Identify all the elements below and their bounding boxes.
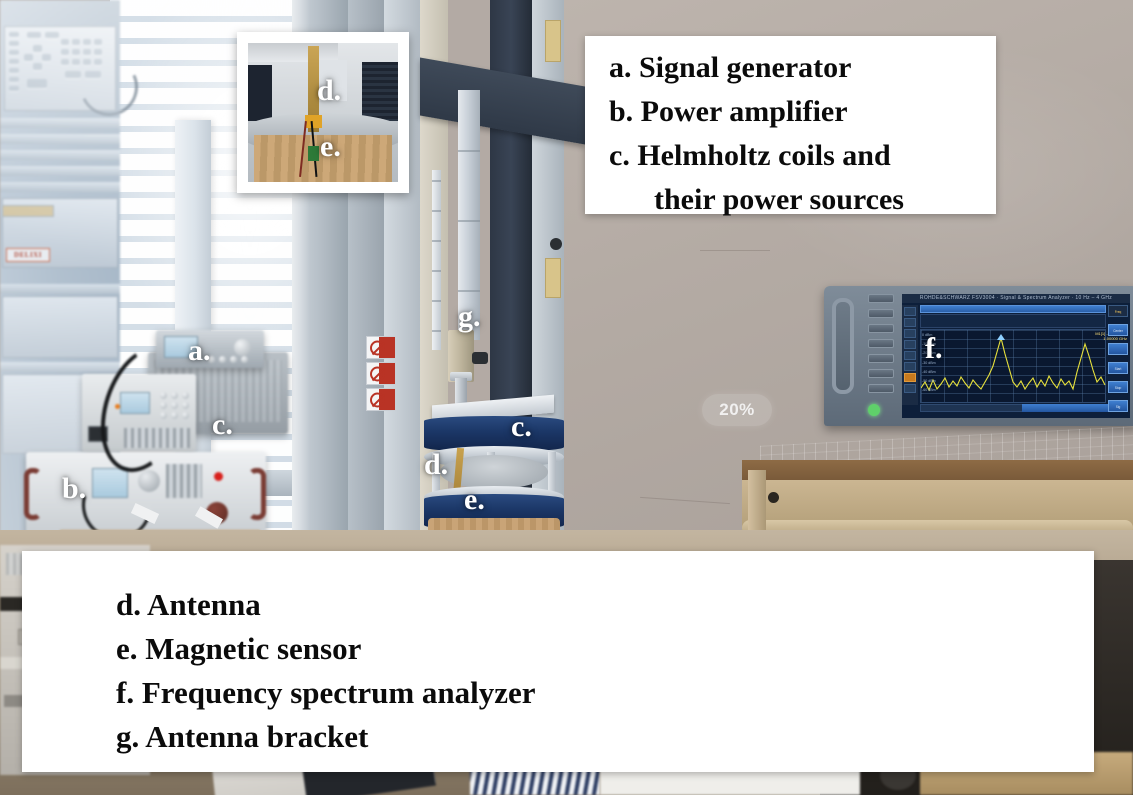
marker-g-antenna-bracket: g. (458, 302, 481, 332)
screenshot-root: DELIXI (0, 0, 1133, 795)
spectrum-trace-svg (921, 330, 1107, 404)
marker-e-magnetic-sensor: e. (464, 485, 485, 515)
legend-bottom-line-f: f. Frequency spectrum analyzer (116, 671, 1094, 715)
analyzer-title-bar: ROHDE&SCHWARZ FSV3004 · Signal & Spectru… (902, 294, 1130, 303)
inset-marker-e: e. (320, 132, 341, 162)
warning-sticker (366, 362, 396, 385)
legend-top-line-c: c. Helmholtz coils and (609, 134, 996, 178)
analyzer-handle (832, 298, 854, 394)
marker-f-spectrum-analyzer: f. (925, 334, 943, 364)
spectrum-analyzer: ROHDE&SCHWARZ FSV3004 · Signal & Spectru… (824, 286, 1133, 426)
bracket-connector (472, 352, 488, 364)
marker-c-helmholtz-coils: c. (511, 412, 532, 442)
bench-knob (768, 492, 779, 503)
legend-bottom-line-d: d. Antenna (116, 583, 1094, 627)
guide-rod (432, 170, 441, 350)
inset-marker-d: d. (317, 76, 341, 106)
marker-a-signal-generator: a. (188, 336, 211, 366)
legend-top-line-c-cont: their power sources (609, 178, 996, 222)
legend-bottom-line-g: g. Antenna bracket (116, 715, 1094, 759)
marker-b-power-amplifier: b. (62, 474, 86, 504)
spectrum-trace (921, 338, 1105, 390)
zoom-level-text: 20% (719, 400, 755, 420)
power-led (868, 404, 880, 416)
legend-box-top: a. Signal generator b. Power amplifier c… (585, 36, 996, 214)
legend-bottom-line-e: e. Magnetic sensor (116, 627, 1094, 671)
analyzer-trace-graph (920, 329, 1106, 403)
legend-top-line-a: a. Signal generator (609, 46, 996, 90)
coil-support-post (548, 452, 556, 494)
frame-knob (550, 238, 562, 250)
wall-crack (700, 250, 770, 251)
legend-top-line-b: b. Power amplifier (609, 90, 996, 134)
warning-sticker (366, 388, 396, 411)
marker-d-antenna: d. (424, 450, 448, 480)
legend-box-bottom: d. Antenna e. Magnetic sensor f. Frequen… (22, 551, 1094, 772)
inset-photo: d. e. (248, 43, 398, 182)
inset-photo-frame: d. e. (237, 32, 409, 193)
analyzer-status-highlight (1022, 404, 1108, 412)
analyzer-measurement-tab[interactable] (920, 305, 1106, 313)
zoom-level-badge[interactable]: 20% (702, 394, 772, 426)
analyzer-softkey-column[interactable]: Freq Center Start Stop Sig Cfg (1108, 305, 1128, 418)
analyzer-keypad[interactable] (868, 294, 896, 399)
machine-tag (545, 20, 561, 62)
machine-tag (545, 258, 561, 298)
marker-c-power-source: c. (212, 410, 233, 440)
analyzer-icon-sidebar[interactable] (902, 305, 918, 405)
warning-sticker (366, 336, 396, 359)
marker-triangle (997, 334, 1005, 340)
analyzer-info-bar (920, 314, 1106, 328)
